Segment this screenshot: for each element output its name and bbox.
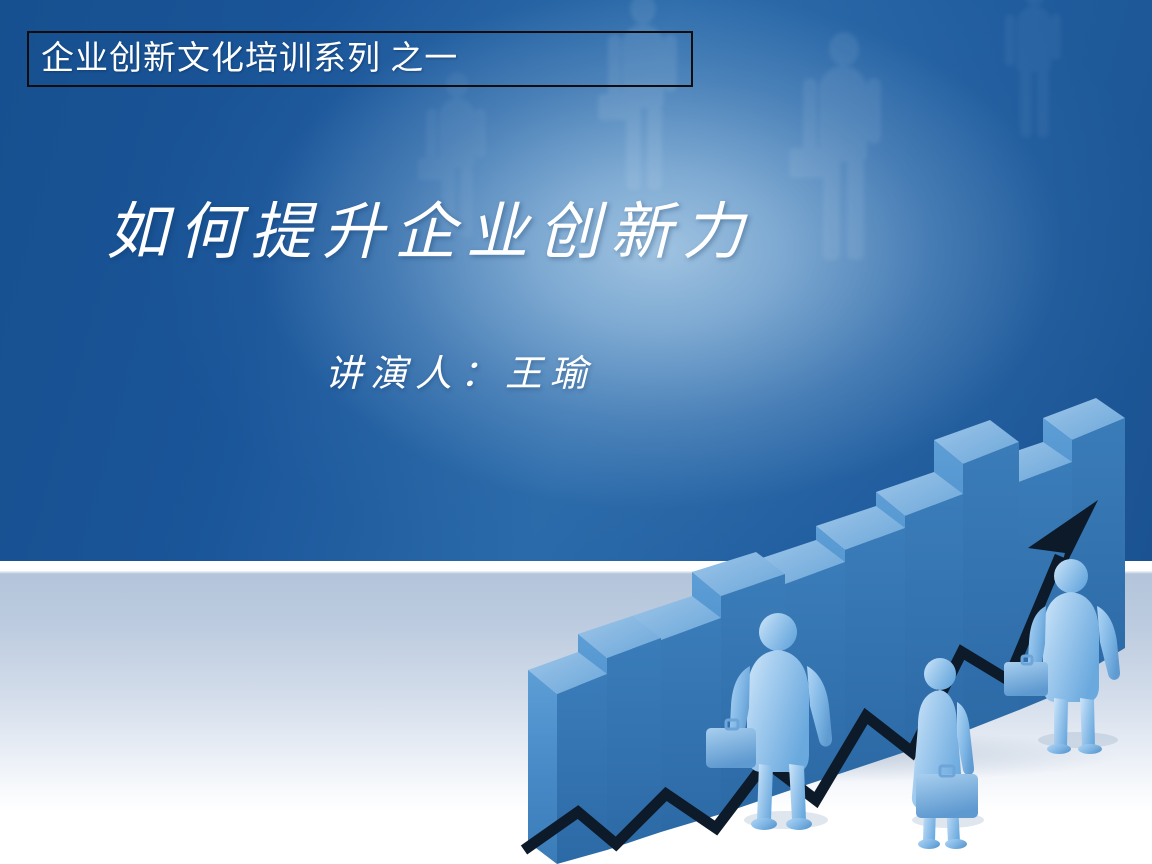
white-divider-band xyxy=(0,561,1152,571)
ghost-figure-4 xyxy=(1000,0,1070,150)
slide-background-lower xyxy=(0,571,1152,864)
series-header-box: 企业创新文化培训系列 之一 xyxy=(27,31,693,87)
page-title: 如何提升企业创新力 xyxy=(0,196,860,267)
series-header-text: 企业创新文化培训系列 之一 xyxy=(29,43,458,76)
ghost-figure-1 xyxy=(600,0,690,200)
presenter-line: 讲演人：王瑜 xyxy=(0,352,920,396)
panel-highlight xyxy=(0,571,1152,574)
presentation-slide: 企业创新文化培训系列 之一 如何提升企业创新力 讲演人：王瑜 xyxy=(0,0,1152,864)
